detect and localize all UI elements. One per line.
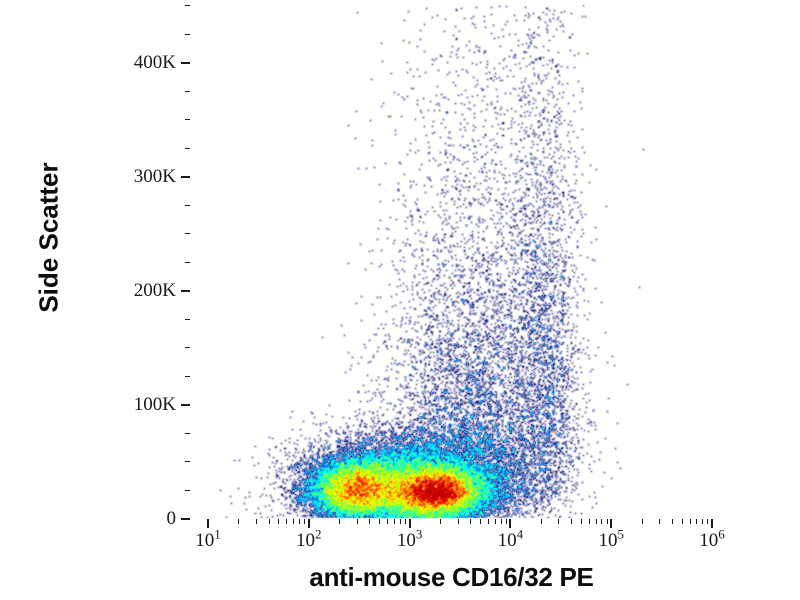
x-tick-minor: [690, 519, 691, 524]
y-tick-minor: [185, 490, 190, 491]
x-tick-label: 106: [699, 530, 725, 552]
x-tick-major: [207, 519, 209, 528]
scatter-density-canvas: [190, 4, 713, 519]
y-tick-minor: [185, 262, 190, 263]
x-tick-minor: [470, 519, 471, 524]
x-tick-minor: [369, 519, 370, 524]
x-tick-minor: [286, 519, 287, 524]
x-tick-major: [711, 519, 713, 528]
x-tick-label-exponent: 3: [416, 527, 423, 542]
y-tick-minor: [185, 34, 190, 35]
x-tick-minor: [541, 519, 542, 524]
x-tick-minor: [581, 519, 582, 524]
y-tick-major: [181, 62, 190, 64]
x-tick-minor: [659, 519, 660, 524]
x-tick-label-base: 10: [699, 530, 718, 551]
x-tick-label: 102: [296, 530, 322, 552]
y-tick-major: [181, 518, 190, 520]
y-tick-minor: [185, 205, 190, 206]
x-tick-minor: [596, 519, 597, 524]
x-tick-label-exponent: 6: [718, 527, 725, 542]
x-tick-minor: [278, 519, 279, 524]
x-tick-label-base: 10: [195, 530, 214, 551]
y-tick-minor: [185, 347, 190, 348]
y-tick-major: [181, 176, 190, 178]
y-tick-minor: [185, 433, 190, 434]
x-tick-minor: [607, 519, 608, 524]
x-tick-minor: [589, 519, 590, 524]
x-tick-minor: [601, 519, 602, 524]
x-tick-major: [409, 519, 411, 528]
x-tick-minor: [501, 519, 502, 524]
y-tick-major: [181, 404, 190, 406]
y-tick-minor: [185, 91, 190, 92]
x-tick-minor: [357, 519, 358, 524]
x-tick-label: 104: [498, 530, 524, 552]
x-tick-minor: [379, 519, 380, 524]
x-tick-label-exponent: 2: [315, 527, 322, 542]
x-tick-minor: [682, 519, 683, 524]
x-tick-minor: [707, 519, 708, 524]
y-tick-minor: [185, 376, 190, 377]
x-tick-label: 101: [195, 530, 221, 552]
y-tick-label: 400K: [0, 52, 176, 74]
y-tick-label: 300K: [0, 166, 176, 188]
x-tick-label-exponent: 5: [617, 527, 624, 542]
x-tick-minor: [696, 519, 697, 524]
x-tick-minor: [571, 519, 572, 524]
x-tick-minor: [269, 519, 270, 524]
y-tick-minor: [185, 233, 190, 234]
x-tick-minor: [458, 519, 459, 524]
x-tick-minor: [299, 519, 300, 524]
x-tick-minor: [405, 519, 406, 524]
x-tick-label: 105: [598, 530, 624, 552]
x-tick-minor: [238, 519, 239, 524]
y-axis-title: Side Scatter: [34, 23, 65, 453]
x-tick-major: [610, 519, 612, 528]
flow-cytometry-plot: 101102103104105106 0100K200K300K400K ant…: [0, 0, 800, 600]
x-tick-label-exponent: 4: [517, 527, 524, 542]
y-tick-minor: [185, 148, 190, 149]
x-tick-label-exponent: 1: [214, 527, 221, 542]
y-tick-minor: [185, 119, 190, 120]
y-tick-major: [181, 290, 190, 292]
x-tick-major: [509, 519, 511, 528]
x-tick-minor: [506, 519, 507, 524]
x-tick-minor: [642, 519, 643, 524]
x-tick-minor: [256, 519, 257, 524]
x-tick-minor: [480, 519, 481, 524]
x-tick-minor: [702, 519, 703, 524]
x-tick-label-base: 10: [397, 530, 416, 551]
x-tick-label-base: 10: [598, 530, 617, 551]
y-tick-minor: [185, 319, 190, 320]
x-tick-minor: [304, 519, 305, 524]
x-tick-label: 103: [397, 530, 423, 552]
x-tick-label-base: 10: [498, 530, 517, 551]
y-tick-minor: [185, 461, 190, 462]
x-axis-title: anti-mouse CD16/32 PE: [190, 562, 713, 593]
x-tick-minor: [440, 519, 441, 524]
x-tick-label-base: 10: [296, 530, 315, 551]
x-tick-minor: [495, 519, 496, 524]
x-tick-minor: [293, 519, 294, 524]
x-tick-minor: [387, 519, 388, 524]
y-tick-minor: [185, 5, 190, 6]
x-tick-minor: [488, 519, 489, 524]
x-tick-minor: [672, 519, 673, 524]
x-tick-minor: [339, 519, 340, 524]
x-tick-major: [308, 519, 310, 528]
x-tick-minor: [558, 519, 559, 524]
x-tick-minor: [394, 519, 395, 524]
y-tick-label: 200K: [0, 280, 176, 302]
x-tick-minor: [400, 519, 401, 524]
y-tick-label: 0: [0, 508, 176, 530]
y-tick-label: 100K: [0, 394, 176, 416]
